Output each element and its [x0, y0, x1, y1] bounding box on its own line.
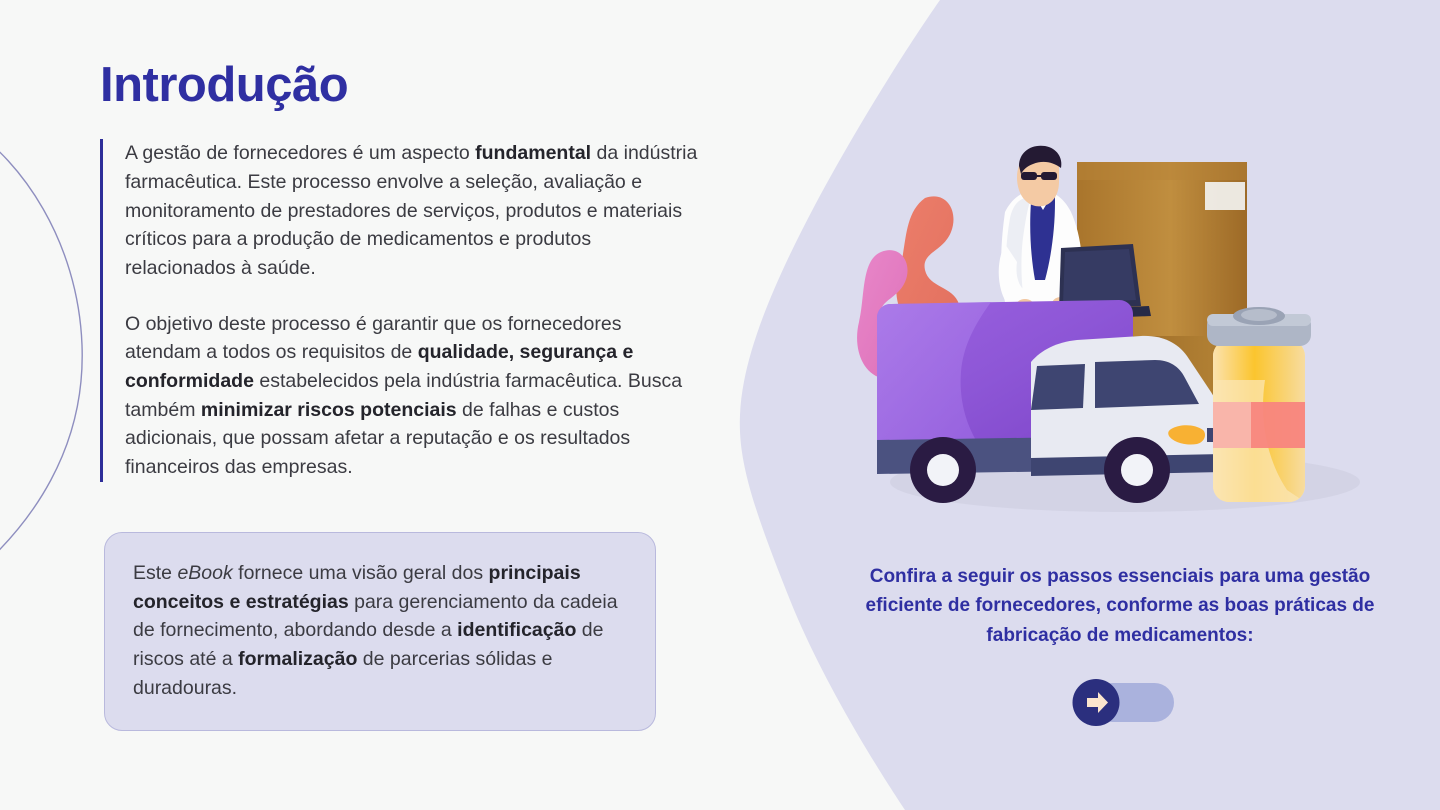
callout-text-1: Este — [133, 562, 177, 584]
paragraph-1: A gestão de fornecedores é um aspecto fu… — [125, 139, 700, 282]
callout-bold-3: formalização — [238, 648, 357, 670]
callout-bold-2: identificação — [457, 619, 576, 641]
next-arrow-button[interactable] — [1071, 679, 1174, 726]
paragraph-1-text-1: A gestão de fornecedores é um aspecto — [125, 142, 475, 164]
slide-root: Introdução A gestão de fornecedores é um… — [0, 0, 1440, 810]
delivery-illustration — [855, 140, 1385, 540]
left-content-column: Introdução A gestão de fornecedores é um… — [100, 60, 700, 482]
paragraph-2-bold-2: minimizar riscos potenciais — [201, 399, 457, 421]
medicine-vial — [1207, 307, 1311, 502]
callout-italic-ebook: eBook — [177, 562, 232, 584]
callout-box: Este eBook fornece uma visão geral dos p… — [104, 532, 656, 731]
page-title: Introdução — [100, 60, 700, 111]
quote-block: A gestão de fornecedores é um aspecto fu… — [100, 139, 700, 481]
right-caption: Confira a seguir os passos essenciais pa… — [860, 562, 1380, 650]
paragraph-2: O objetivo deste processo é garantir que… — [125, 310, 700, 482]
callout-text-2: fornece uma visão geral dos — [233, 562, 489, 584]
paragraph-1-bold-1: fundamental — [475, 142, 591, 164]
callout-text: Este eBook fornece uma visão geral dos p… — [133, 559, 627, 702]
